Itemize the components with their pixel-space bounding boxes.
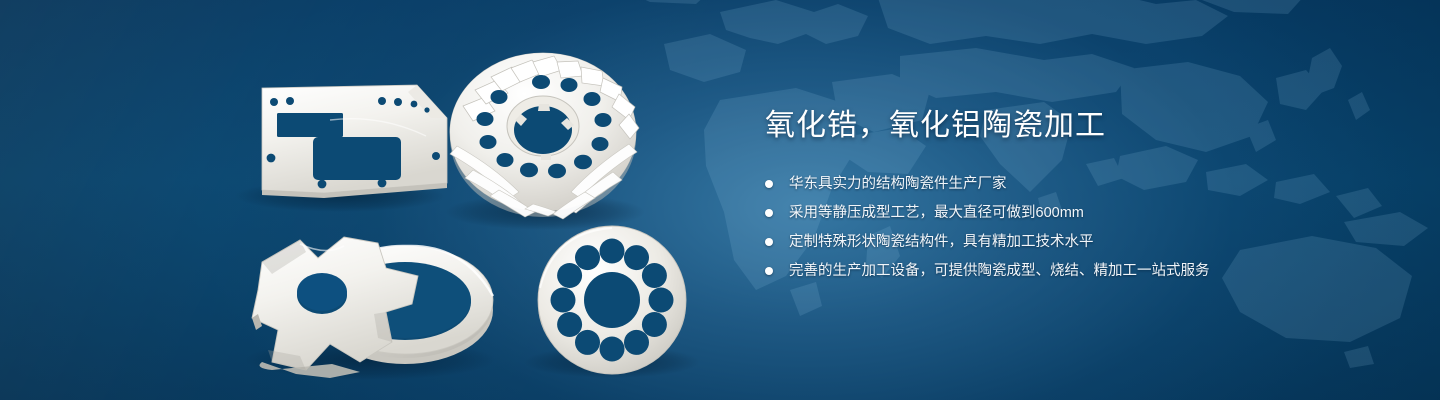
bullet-dot-icon [765, 267, 773, 275]
ceramic-impeller [450, 53, 639, 219]
bullet-dot-icon [765, 180, 773, 188]
ceramic-plate [262, 85, 447, 198]
list-item: 华东具实力的结构陶瓷件生产厂家 [765, 174, 1385, 194]
ceramic-parts-group [0, 0, 740, 400]
bullet-dot-icon [765, 209, 773, 217]
list-item: 定制特殊形状陶瓷结构件，具有精加工技术水平 [765, 232, 1385, 252]
feature-text: 定制特殊形状陶瓷结构件，具有精加工技术水平 [789, 234, 1094, 250]
list-item: 采用等静压成型工艺，最大直径可做到600mm [765, 203, 1385, 223]
page-title: 氧化锆，氧化铝陶瓷加工 [765, 106, 1385, 146]
feature-text: 完善的生产加工设备，可提供陶瓷成型、烧结、精加工一站式服务 [789, 263, 1210, 279]
feature-list: 华东具实力的结构陶瓷件生产厂家 采用等静压成型工艺，最大直径可做到600mm 定… [765, 174, 1385, 281]
ceramic-product-banner: 氧化锆，氧化铝陶瓷加工 华东具实力的结构陶瓷件生产厂家 采用等静压成型工艺，最大… [0, 0, 1440, 400]
banner-copy: 氧化锆，氧化铝陶瓷加工 华东具实力的结构陶瓷件生产厂家 采用等静压成型工艺，最大… [765, 106, 1385, 281]
feature-text: 华东具实力的结构陶瓷件生产厂家 [789, 176, 1007, 192]
list-item: 完善的生产加工设备，可提供陶瓷成型、烧结、精加工一站式服务 [765, 261, 1385, 281]
bullet-dot-icon [765, 238, 773, 246]
feature-text: 采用等静压成型工艺，最大直径可做到600mm [789, 205, 1084, 221]
ceramic-perforated-disc [538, 226, 686, 374]
